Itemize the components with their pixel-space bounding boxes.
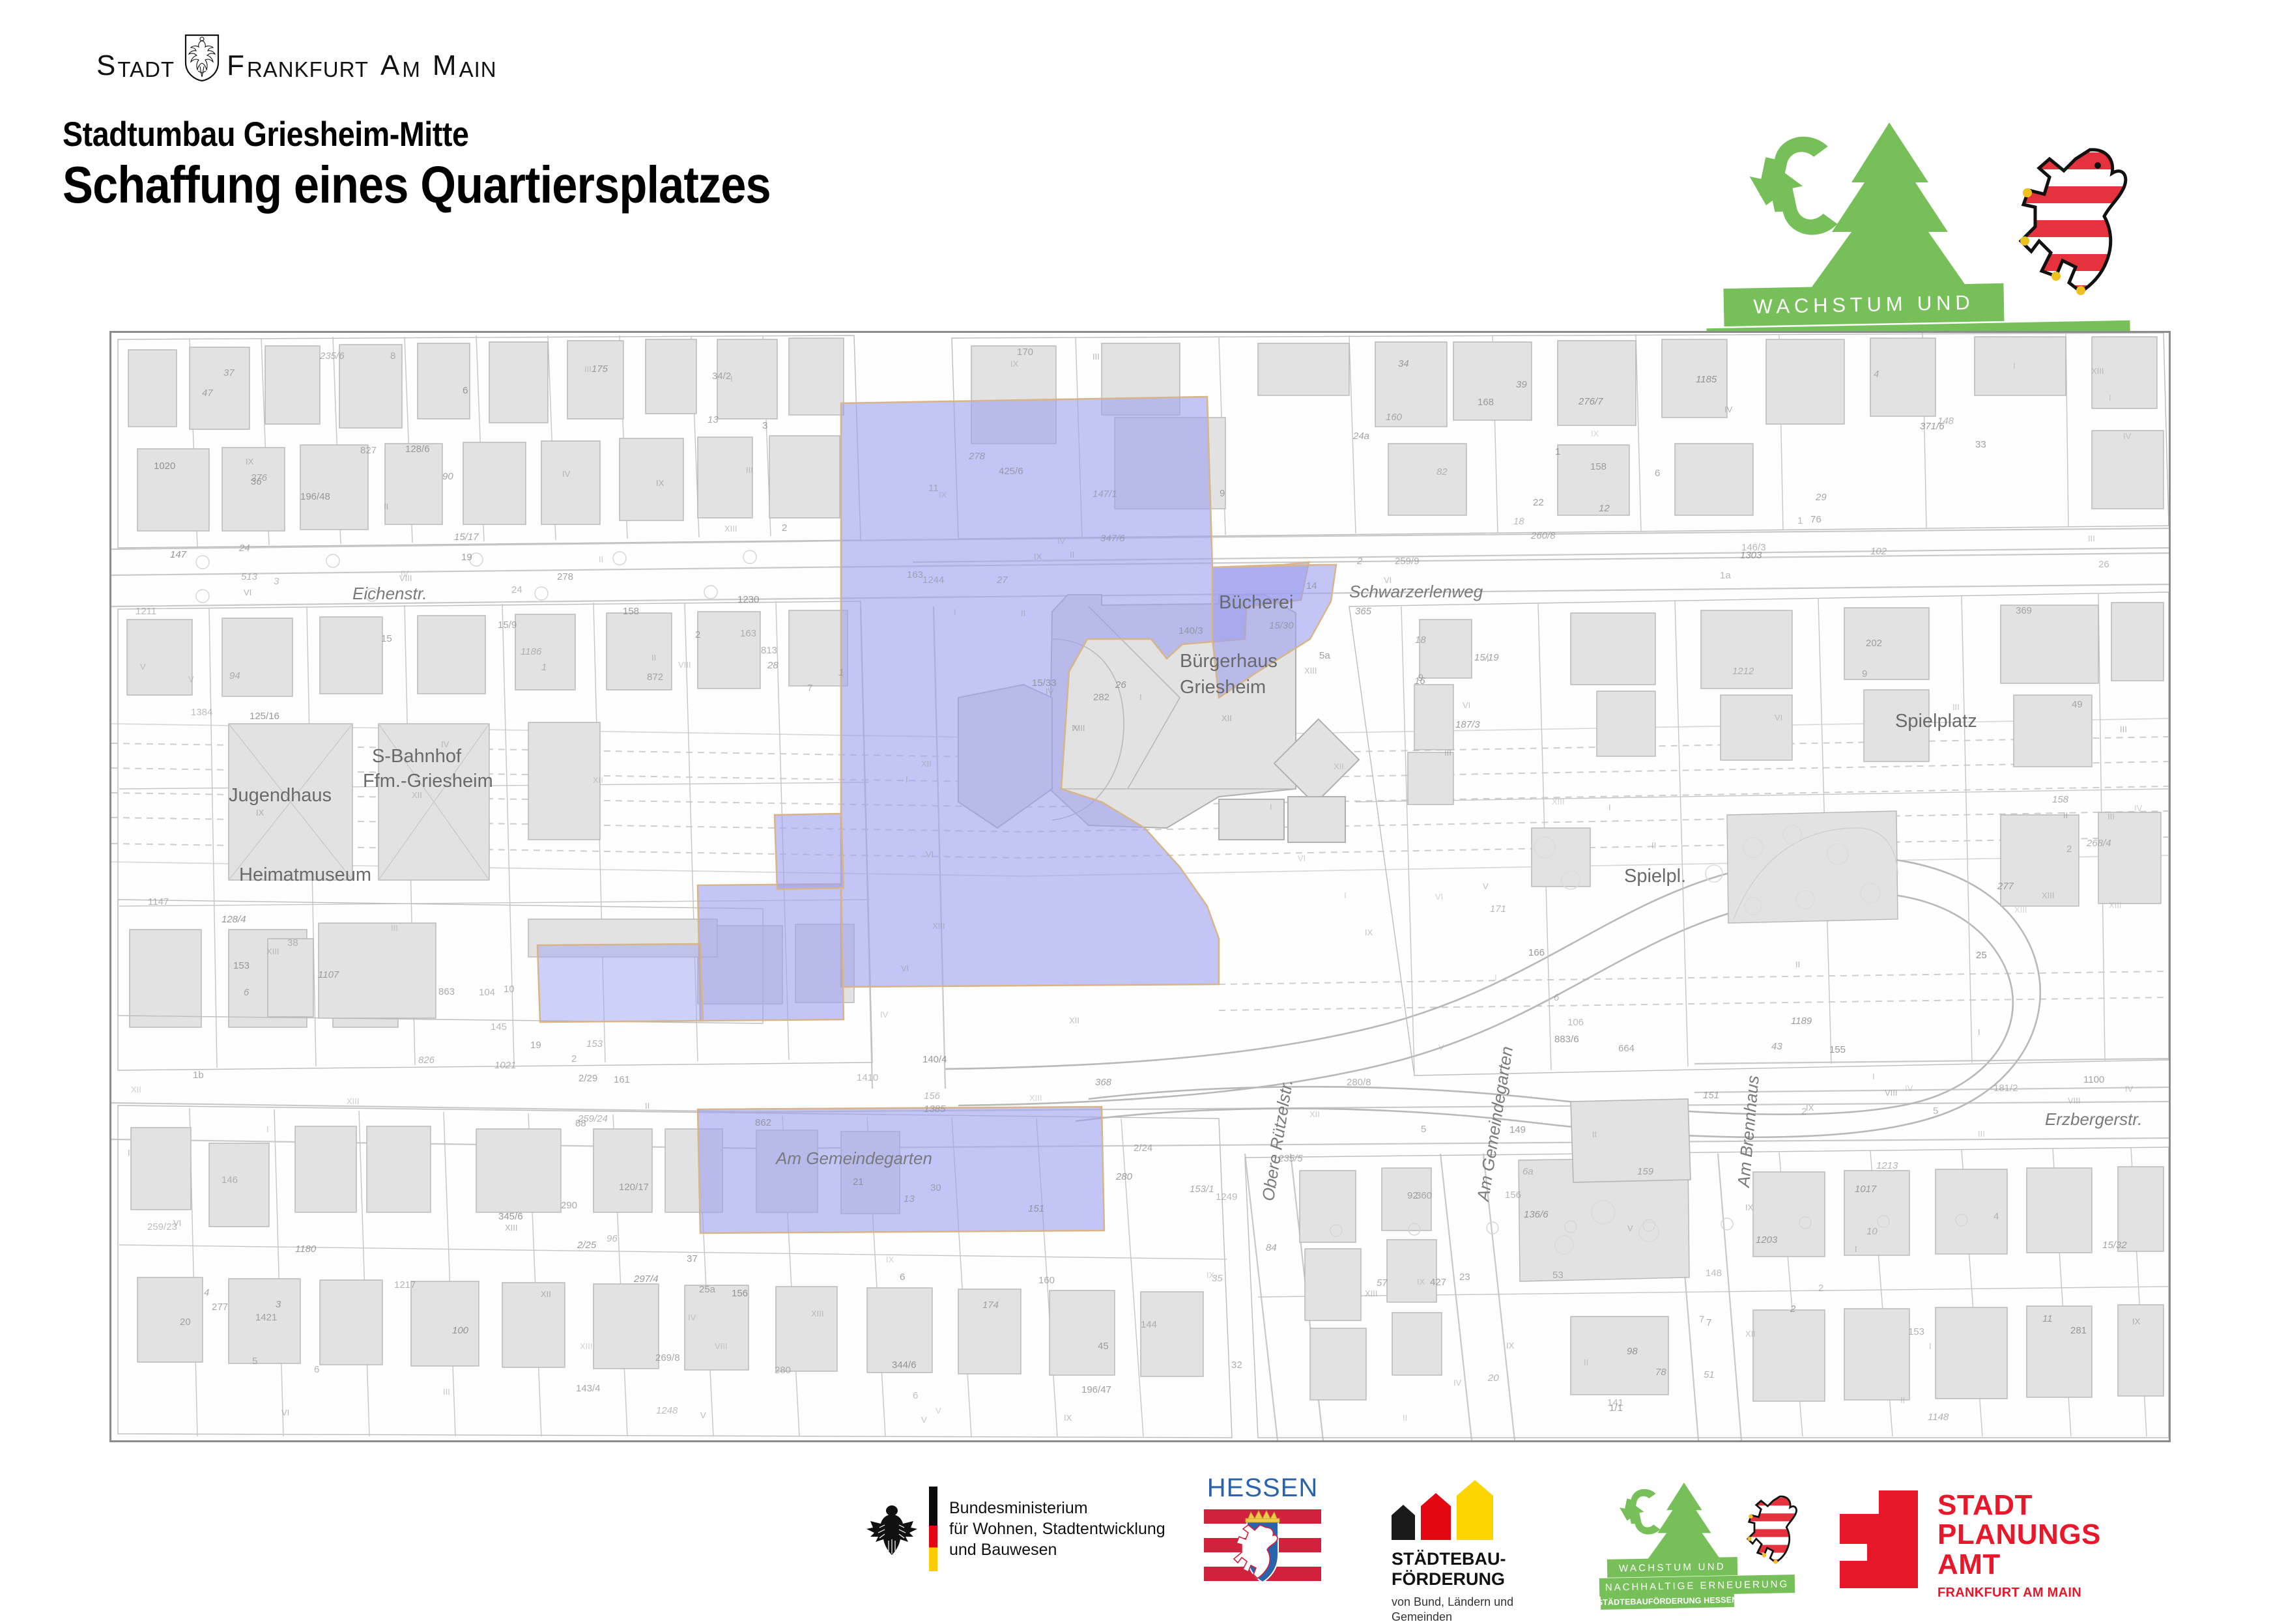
city-logo-m2: M (433, 50, 457, 82)
building-storey-marker: VI (1435, 892, 1443, 902)
spa-wordmark: STADT PLANUNGS AMT (1937, 1490, 2101, 1579)
building-storey-marker: XII (1745, 1329, 1756, 1339)
building-storey-marker: I (266, 1124, 269, 1134)
parcel-number: 171 (1490, 904, 1506, 915)
parcel-number: 7 (1699, 1314, 1704, 1325)
building-storey-marker: VI (281, 1408, 289, 1417)
staedtebau-subtext: von Bund, Ländern und Gemeinden (1392, 1595, 1513, 1624)
building-storey-marker: I (1929, 1341, 1932, 1351)
building-storey-marker: IX (886, 1255, 894, 1264)
building-storey-marker: III (584, 364, 592, 374)
parcel-number: 5 (1933, 1105, 1938, 1117)
parcel-number: 2 (571, 1053, 577, 1064)
parcel-number: 38 (287, 937, 298, 948)
parcel-number: 148 (1706, 1268, 1722, 1279)
parcel-number: 1385 (924, 1104, 945, 1115)
parcel-number: 155 (1829, 1044, 1846, 1055)
building-storey-marker: I (2109, 393, 2111, 403)
spa-line3: AMT (1937, 1550, 2101, 1579)
parcel-number: 160 (1386, 412, 1402, 423)
parcel-number: 26 (1115, 679, 1126, 691)
parcel-number: 1 (838, 667, 844, 678)
parcel-number: 24 (239, 543, 250, 554)
building-storey-marker: V (700, 1410, 706, 1420)
parcel-number: 26 (2098, 559, 2109, 570)
parcel-number: 90 (442, 471, 453, 482)
building-storey-marker: IV (1905, 1083, 1913, 1093)
staedtebau-text: STÄDTEBAU- FÖRDERUNG (1392, 1549, 1513, 1589)
building-storey-marker: VI (1463, 700, 1470, 710)
place-label-ffm-griesheim: Ffm.-Griesheim (363, 771, 493, 792)
parcel-number: 24a (1353, 431, 1369, 442)
parcel-number: 13 (904, 1193, 915, 1204)
spa-line1: STADT (1937, 1490, 2101, 1520)
parcel-number: 6 (913, 1390, 918, 1401)
parcel-number: 128/6 (405, 444, 430, 455)
place-label-griesheim: Griesheim (1180, 677, 1266, 698)
parcel-number: 268/4 (2087, 838, 2111, 849)
parcel-number: 1410 (857, 1072, 878, 1083)
building-storey-marker: XIII (1029, 1093, 1042, 1103)
building-storey-marker: IX (1365, 928, 1373, 937)
bundesadler-icon (866, 1499, 917, 1559)
parcel-number: 45 (1098, 1341, 1109, 1352)
building-storey-marker: IV (1724, 405, 1732, 414)
parcel-number: 102 (1870, 546, 1887, 557)
parcel-number: 4 (204, 1287, 209, 1298)
parcel-number: 161 (614, 1074, 630, 1085)
parcel-number: 1248 (656, 1405, 678, 1416)
staedtebaufoerderung-logo: STÄDTEBAU- FÖRDERUNG von Bund, Ländern u… (1392, 1487, 1513, 1624)
parcel-number: 3 (274, 576, 279, 587)
recycle-arrow-tree-icon (1733, 120, 2026, 289)
building-storey-marker: VI (926, 849, 934, 859)
parcel-number: 147 (170, 549, 186, 560)
parcel-number: 125/16 (250, 711, 279, 722)
parcel-number: 15/32 (2102, 1240, 2127, 1251)
parcel-number: 297/4 (634, 1274, 659, 1285)
parcel-number: 235/6 (320, 350, 345, 362)
building-storey-marker: XIII (1072, 723, 1085, 733)
building-storey-marker: IV (880, 1010, 888, 1019)
building-storey-marker: III (2120, 724, 2127, 734)
building-storey-marker: V (140, 662, 146, 672)
parcel-number: 827 (360, 445, 377, 456)
parcel-number: 1211 (136, 606, 156, 617)
building-storey-marker: VI (1775, 713, 1782, 722)
parcel-number: 29 (1816, 492, 1827, 503)
parcel-number: 1421 (255, 1312, 277, 1323)
parcel-number: 166 (1528, 947, 1545, 958)
parcel-number: 862 (755, 1117, 771, 1128)
building-storey-marker: II (1403, 1413, 1407, 1423)
wachstum-band-1-footer: WACHSTUM UND (1607, 1557, 1738, 1578)
parcel-number: 30 (930, 1182, 941, 1193)
parcel-number: 269/8 (655, 1352, 680, 1363)
bmwsb-line2: für Wohnen, Stadtentwicklung (949, 1518, 1165, 1539)
parcel-number: 47 (202, 388, 213, 399)
building-storey-marker: XII (921, 759, 932, 769)
german-flag-bar-icon (929, 1487, 937, 1571)
building-storey-marker: II (384, 502, 388, 511)
building-storey-marker: IX (1010, 359, 1018, 369)
place-label-jugendhaus: Jugendhaus (229, 785, 332, 806)
parcel-number: 104 (479, 987, 495, 998)
parcel-number: 6a (1522, 1166, 1534, 1177)
parcel-number: 235/5 (1278, 1153, 1303, 1164)
parcel-number: 181/2 (1993, 1083, 2018, 1094)
building-storey-marker: II (1795, 960, 1800, 969)
building-storey-marker: I (1487, 654, 1489, 664)
city-logo-m: M (402, 57, 421, 82)
parcel-number: 51 (1704, 1369, 1715, 1380)
parcel-number: 883/6 (1554, 1034, 1579, 1045)
building-storey-marker: IX (1207, 1270, 1214, 1280)
parcel-number: 5 (1421, 1124, 1426, 1135)
parcel-number: 259/24 (578, 1113, 608, 1124)
building-storey-marker: IV (1057, 536, 1065, 546)
project-subtitle: Stadtumbau Griesheim-Mitte (63, 115, 468, 154)
map-drawing (111, 333, 2169, 1440)
building-storey-marker: VIII (715, 1341, 728, 1351)
parcel-number: 43 (1771, 1041, 1782, 1052)
building-storey-marker: V (1627, 1223, 1633, 1233)
parcel-number: 28 (767, 660, 779, 671)
parcel-number: 1189 (1791, 1016, 1812, 1027)
parcel-number: 1217 (394, 1279, 416, 1290)
building-storey-marker: XII (541, 1289, 551, 1299)
hessen-lion-icon (2013, 137, 2130, 300)
parcel-number: 280 (775, 1365, 791, 1376)
building-storey-marker: XIII (580, 1341, 593, 1351)
parcel-number: 94 (229, 670, 240, 681)
building-storey-marker: II (1900, 1395, 1905, 1405)
building-storey-marker: IX (1506, 1341, 1514, 1350)
building-storey-marker: XII (593, 775, 603, 785)
parcel-number: 170 (1017, 347, 1033, 358)
parcel-number: 2 (695, 629, 700, 640)
building-storey-marker: II (1651, 840, 1656, 850)
three-houses-icon (1392, 1487, 1513, 1540)
building-storey-marker: XII (1309, 1109, 1320, 1119)
bmwsb-line3: und Bauwesen (949, 1539, 1165, 1560)
building-storey-marker: XIII (2014, 905, 2027, 915)
parcel-number: 20 (180, 1317, 191, 1328)
parcel-number: 826 (418, 1055, 435, 1066)
spa-subtitle: FRANKFURT AM MAIN (1937, 1586, 2101, 1601)
building-storey-marker: I (906, 775, 908, 784)
parcel-number: 4 (1874, 369, 1879, 380)
parcel-number: 53 (1552, 1270, 1564, 1281)
city-logo-a: A (380, 50, 400, 82)
parcel-number: 1249 (1216, 1191, 1237, 1203)
parcel-number: 160 (1038, 1275, 1055, 1286)
building-storey-marker: III (443, 1387, 450, 1397)
building-storey-marker: XIII (505, 1223, 518, 1232)
parcel-number: 6 (314, 1364, 319, 1375)
parcel-number: 33 (1975, 439, 1986, 450)
building-storey-marker: I (1872, 1072, 1875, 1081)
parcel-number: 15/17 (454, 532, 479, 543)
parcel-number: 153 (586, 1038, 603, 1049)
parcel-number: 174 (982, 1300, 999, 1311)
bmwsb-line1: Bundesministerium (949, 1498, 1165, 1518)
street-label-schwarzerlenweg: Schwarzerlenweg (1349, 582, 1483, 602)
wachstum-band-3-footer: STÄDTEBAUFÖRDERUNG HESSEN (1601, 1593, 1734, 1610)
parcel-number: 2 (2066, 844, 2072, 855)
parcel-number: 11 (2042, 1313, 2053, 1324)
building-storey-marker: IV (1046, 687, 1053, 696)
parcel-number: 98 (1627, 1346, 1638, 1357)
building-storey-marker: IV (441, 739, 449, 749)
parcel-number: 5 (252, 1356, 257, 1367)
parcel-number: 140/3 (1179, 625, 1203, 636)
parcel-number: 1148 (1928, 1412, 1949, 1423)
parcel-number: 347/6 (1100, 533, 1125, 544)
building-storey-marker: IV (2134, 803, 2142, 813)
parcel-number: 12 (1599, 503, 1610, 514)
building-storey-marker: I (2013, 361, 2016, 371)
building-storey-marker: V (1483, 881, 1489, 891)
parcel-number: 6 (900, 1272, 905, 1283)
building-storey-marker: II (599, 554, 603, 564)
hessen-lion-icon-footer (1744, 1490, 1799, 1566)
place-label-spielpl: Spielpl. (1624, 866, 1686, 887)
stadtplanungsamt-mark-icon (1840, 1490, 1918, 1588)
parcel-number: 344/6 (892, 1360, 917, 1371)
parcel-number: 1 (1555, 446, 1560, 457)
parcel-number: 196/47 (1081, 1384, 1111, 1395)
parcel-number: 13 (707, 414, 719, 425)
wachstum-band-1: WACHSTUM UND (1723, 283, 2004, 326)
building-storey-marker: II (651, 653, 656, 662)
city-logo-f: F (227, 50, 245, 82)
parcel-number: 158 (623, 606, 639, 617)
place-label-heimatmuseum: Heimatmuseum (239, 864, 371, 886)
building-storey-marker: V (1438, 1042, 1444, 1052)
parcel-number: 120/17 (619, 1182, 649, 1193)
parcel-number: 19 (461, 552, 472, 563)
building-storey-marker: I (1139, 692, 1142, 702)
parcel-number: 276/7 (1579, 396, 1603, 407)
parcel-number: 147/1 (1093, 489, 1117, 500)
staedtebau-line1: STÄDTEBAU- (1392, 1549, 1513, 1569)
building-storey-marker: XIII (1365, 1289, 1378, 1298)
building-storey-marker: VI (901, 963, 909, 973)
parcel-number: 1b (193, 1070, 204, 1081)
hessen-logo: HESSEN (1204, 1474, 1321, 1593)
parcel-number: 144 (1141, 1319, 1157, 1330)
parcel-number: 21 (853, 1176, 864, 1188)
place-label-buergerhaus: Bürgerhaus (1180, 651, 1278, 672)
building-storey-marker: V (936, 1406, 941, 1416)
parcel-number: 145 (491, 1021, 507, 1033)
building-storey-marker: VI (1298, 853, 1306, 863)
parcel-number: 259/23 (147, 1221, 177, 1232)
parcel-number: 15/30 (1269, 620, 1294, 631)
parcel-number: 3 (762, 420, 767, 431)
parcel-number: 1020 (154, 461, 175, 472)
parcel-number: 187/3 (1455, 719, 1480, 730)
building-storey-marker: XIII (2042, 890, 2055, 900)
building-storey-marker: IV (688, 1313, 696, 1322)
parcel-number: 365 (1355, 606, 1371, 617)
street-label-am-gemeindegarten: Am Gemeindegarten (776, 1148, 932, 1169)
parcel-number: 813 (761, 645, 777, 656)
parcel-number: 25 (1976, 950, 1987, 961)
building-storey-marker: IX (656, 478, 664, 488)
parcel-number: 36 (251, 476, 262, 487)
building-storey-marker: IX (939, 490, 947, 500)
parcel-number: 168 (1478, 397, 1494, 408)
parcel-number: 345/6 (498, 1211, 523, 1222)
parcel-number: 1180 (295, 1244, 316, 1255)
parcel-number: 15/9 (498, 620, 517, 631)
parcel-number: 1a (1720, 570, 1731, 581)
staedtebau-line4: Gemeinden (1392, 1610, 1513, 1624)
building-storey-marker: I (1270, 802, 1272, 812)
parcel-number: 282 (1093, 692, 1109, 703)
parcel-number: 22 (1533, 497, 1544, 508)
parcel-number: 260/8 (1531, 530, 1556, 541)
parcel-number: 1244 (922, 575, 944, 586)
street-label-erzbergerstr: Erzbergerstr. (2045, 1109, 2142, 1130)
parcel-number: 7 (807, 683, 812, 694)
parcel-number: 1147 (148, 896, 169, 907)
parcel-number: 5a (1319, 650, 1330, 661)
building-storey-marker: XII (131, 1085, 141, 1094)
parcel-number: 280 (1116, 1171, 1132, 1182)
parcel-number: 277 (212, 1302, 228, 1313)
parcel-number: 146/3 (1741, 542, 1766, 553)
parcel-number: 202 (1866, 638, 1882, 649)
bmwsb-text: Bundesministerium für Wohnen, Stadtentwi… (949, 1498, 1165, 1560)
staedtebau-line3: von Bund, Ländern und (1392, 1595, 1513, 1610)
parcel-number: 7 (1706, 1317, 1711, 1328)
building-storey-marker: VI (244, 588, 251, 597)
staedtebau-line2: FÖRDERUNG (1392, 1569, 1513, 1589)
parcel-number: 1230 (737, 594, 759, 605)
building-storey-marker: II (645, 1101, 650, 1111)
parcel-number: 1021 (494, 1060, 516, 1071)
parcel-number: 100 (452, 1325, 468, 1336)
parcel-number: 6 (244, 987, 249, 998)
wachstum-logo-footer: WACHSTUM UND NACHHALTIGE ERNEUERUNG STÄD… (1599, 1481, 1814, 1605)
building-storey-marker: I (954, 607, 956, 617)
parcel-number: 2/24 (1134, 1143, 1152, 1154)
parcel-number: 425/6 (999, 466, 1023, 477)
parcel-number: 143/4 (576, 1383, 601, 1394)
parcel-number: 37 (223, 367, 235, 378)
city-logo: S TADT F RANKFURT A M M AIN (96, 34, 497, 82)
hessen-flag-crest-icon (1204, 1507, 1321, 1590)
parcel-number: 9 (1862, 668, 1867, 679)
building-storey-marker: XIII (2109, 900, 2122, 910)
building-storey-marker: IX (1745, 1203, 1753, 1212)
building-storey-marker: IX (246, 457, 253, 466)
building-storey-marker: VIII (399, 573, 412, 583)
parcel-number: 1 (541, 662, 547, 673)
parcel-number: 369 (2016, 605, 2032, 616)
parcel-number: 6 (463, 385, 468, 396)
parcel-number: 9 (1418, 672, 1423, 683)
building-storey-marker: XIII (2091, 366, 2104, 376)
building-storey-marker: I (1855, 1244, 1857, 1254)
building-storey-marker: IX (1034, 552, 1042, 562)
building-storey-marker: III (1093, 352, 1100, 362)
parcel-number: 153 (1908, 1326, 1924, 1337)
parcel-number: 106 (1567, 1017, 1584, 1028)
building-storey-marker: IX (1064, 1413, 1072, 1423)
parcel-number: 11 (928, 483, 939, 494)
parcel-number: 128/4 (221, 914, 246, 925)
parcel-number: 153 (233, 960, 250, 971)
building-storey-marker: VIII (678, 660, 691, 670)
parcel-number: 664 (1618, 1043, 1635, 1054)
building-storey-marker: IV (2125, 1084, 2133, 1094)
parcel-number: 427 (1430, 1277, 1446, 1288)
parcel-number: 151 (1028, 1203, 1044, 1214)
city-logo-rankfurt: RANKFURT (247, 57, 369, 82)
parcel-number: 15 (381, 633, 392, 644)
parcel-number: 20 (1488, 1373, 1499, 1384)
building-storey-marker: XIII (811, 1309, 824, 1318)
building-storey-marker: XIII (266, 947, 279, 956)
parcel-number: 3 (276, 1299, 281, 1310)
parcel-number: 151 (1703, 1090, 1719, 1101)
parcel-number: 259/9 (1395, 556, 1420, 567)
building-storey-marker: III (1978, 1129, 1985, 1139)
parcel-number: 156 (1505, 1190, 1521, 1201)
parcel-number: 6 (1554, 992, 1559, 1003)
building-storey-marker: III (1444, 748, 1451, 758)
parcel-number: 37 (687, 1253, 698, 1264)
parcel-number: 1212 (1732, 666, 1754, 677)
parcel-number: 1186 (521, 646, 541, 657)
recycle-arrow-tree-icon-footer (1611, 1481, 1748, 1560)
parcel-number: 368 (1095, 1077, 1111, 1088)
parcel-number: 146 (221, 1175, 238, 1186)
parcel-number: 25a (699, 1284, 715, 1295)
parcel-number: 84 (1266, 1242, 1277, 1253)
stadtplanungsamt-logo: STADT PLANUNGS AMT FRANKFURT AM MAIN (1840, 1490, 2101, 1601)
building-storey-marker: II (1592, 1130, 1597, 1139)
cadastral-map[interactable]: Eichenstr. Schwarzerlenweg Erzbergerstr.… (109, 331, 2171, 1442)
parcel-number: 277 (1997, 881, 2014, 892)
building-storey-marker: IV (2123, 431, 2131, 441)
building-storey-marker: III (391, 923, 398, 933)
parcel-number: 2/29 (579, 1073, 597, 1084)
building-storey-marker: XIII (347, 1096, 360, 1106)
parcel-number: 360 (1416, 1190, 1432, 1201)
parcel-number: 156 (924, 1090, 940, 1102)
parcel-number: 27 (997, 575, 1008, 586)
parcel-number: 8 (390, 350, 395, 362)
parcel-number: 1017 (1855, 1184, 1876, 1195)
parcel-number: 1/1 (1609, 1403, 1623, 1414)
building-storey-marker: IV (562, 469, 570, 479)
building-storey-marker: XII (412, 790, 422, 800)
building-storey-marker: II (1584, 1358, 1588, 1367)
parcel-number: 1107 (318, 969, 339, 980)
parcel-number: 158 (1590, 461, 1607, 472)
building-storey-marker: VI (1384, 575, 1392, 585)
building-storey-marker: IX (256, 808, 264, 818)
building-storey-marker: I (128, 1148, 130, 1158)
building-storey-marker: II (1070, 550, 1074, 560)
parcel-number: 156 (732, 1288, 748, 1299)
building-storey-marker: XII (1069, 1016, 1079, 1025)
